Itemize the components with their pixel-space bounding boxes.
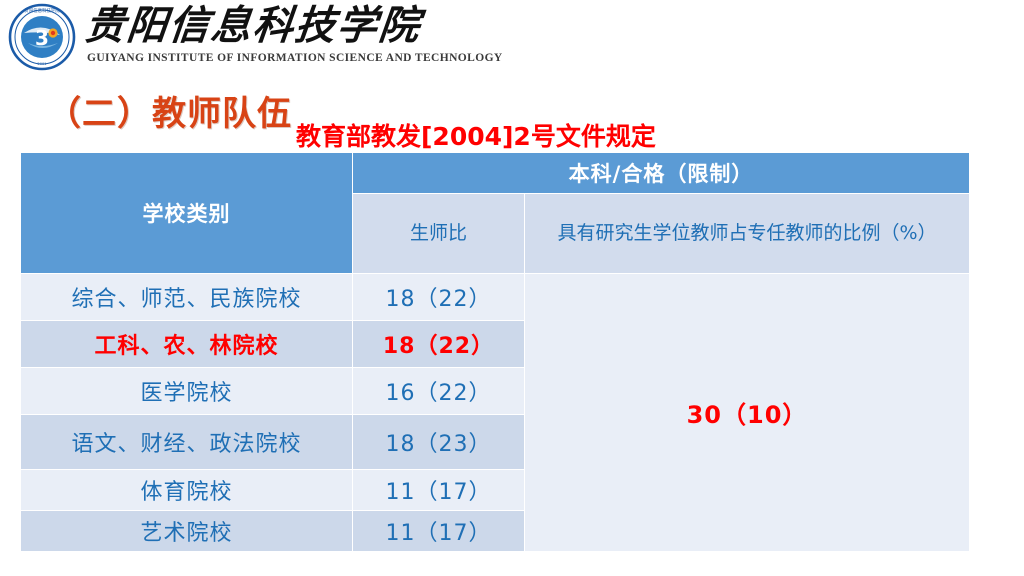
column-header-group: 本科/合格（限制） — [353, 153, 970, 194]
page-title: （二）教师队伍 — [47, 86, 292, 135]
row-label-sports: 体育院校 — [21, 470, 353, 511]
university-name-cn: 贵阳信息科技学院 — [82, 2, 417, 50]
svg-text:贵阳信息科技学院: 贵阳信息科技学院 — [24, 7, 60, 14]
university-name-en: GUIYANG INSTITUTE OF INFORMATION SCIENCE… — [87, 52, 413, 64]
row-label-arts: 艺术院校 — [21, 511, 353, 552]
university-seal-icon: 3 贵阳信息科技学院 2001 — [8, 3, 76, 71]
row-ratio-arts: 11（17） — [353, 511, 525, 552]
row-ratio-sports: 11（17） — [353, 470, 525, 511]
seal-year: 2001 — [37, 62, 46, 66]
university-wordmark: 贵阳信息科技学院 GUIYANG INSTITUTE OF INFORMATIO… — [85, 2, 415, 74]
row-ratio-medical: 16（22） — [353, 368, 525, 415]
row-ratio-liberal-finance-law: 18（23） — [353, 415, 525, 470]
teacher-standards-table: 学校类别 本科/合格（限制） 生师比 具有研究生学位教师占专任教师的比例（%） … — [20, 152, 970, 552]
row-label-engineering-agriculture-forestry: 工科、农、林院校 — [21, 321, 353, 368]
row-label-liberal-finance-law: 语文、财经、政法院校 — [21, 415, 353, 470]
column-header-graduate-degree-percentage: 具有研究生学位教师占专任教师的比例（%） — [525, 194, 970, 274]
row-label-medical: 医学院校 — [21, 368, 353, 415]
merged-graduate-degree-value: 30（10） — [525, 274, 970, 552]
table-row: 综合、师范、民族院校 18（22） 30（10） — [21, 274, 970, 321]
table-header-row-top: 学校类别 本科/合格（限制） — [21, 153, 970, 194]
column-header-student-teacher-ratio: 生师比 — [353, 194, 525, 274]
row-ratio-engineering-agriculture-forestry: 18（22） — [353, 321, 525, 368]
column-header-category: 学校类别 — [21, 153, 353, 274]
row-ratio-comprehensive-normal-ethnic: 18（22） — [353, 274, 525, 321]
page-subtitle: 教育部教发[2004]2号文件规定 — [296, 117, 656, 153]
slide-logo-band: 3 贵阳信息科技学院 2001 贵阳信息科技学院 GUIYANG INSTITU… — [0, 0, 1024, 78]
svg-text:3: 3 — [35, 26, 49, 50]
row-label-comprehensive-normal-ethnic: 综合、师范、民族院校 — [21, 274, 353, 321]
